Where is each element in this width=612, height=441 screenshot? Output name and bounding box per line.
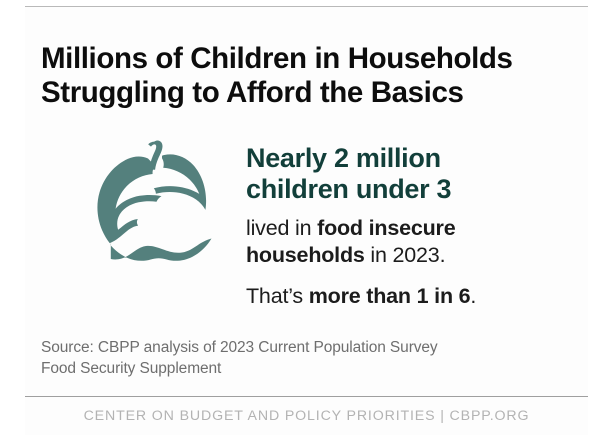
page-title: Millions of Children in Households Strug… <box>41 42 586 110</box>
stat-headline-line-1: Nearly 2 million <box>246 143 576 174</box>
stat-desc-regular-2: in 2023. <box>365 243 446 267</box>
apple-icon <box>88 132 228 277</box>
headline-line-2: Struggling to Afford the Basics <box>41 76 586 110</box>
stat-kicker-regular-start: That’s <box>246 284 309 308</box>
stat-kicker-regular-end: . <box>470 284 476 308</box>
stat-headline-line-2: children under 3 <box>246 174 576 205</box>
source-note: Source: CBPP analysis of 2023 Current Po… <box>41 337 571 379</box>
stat-description-line-1: lived in food insecure <box>246 215 576 242</box>
stat-kicker: That’s more than 1 in 6. <box>246 283 576 310</box>
source-line-1: Source: CBPP analysis of 2023 Current Po… <box>41 337 571 358</box>
stat-description: lived in food insecure households in 202… <box>246 215 576 269</box>
stat-kicker-bold: more than 1 in 6 <box>309 284 471 308</box>
infographic-canvas: Millions of Children in Households Strug… <box>0 0 612 441</box>
headline-line-1: Millions of Children in Households <box>41 42 586 76</box>
stat-desc-bold-1: food insecure <box>317 216 455 240</box>
stat-headline: Nearly 2 million children under 3 <box>246 143 576 205</box>
stat-desc-bold-2: households <box>246 243 365 267</box>
footer-attribution: CENTER ON BUDGET AND POLICY PRIORITIES |… <box>25 408 588 424</box>
stat-description-line-2: households in 2023. <box>246 242 576 269</box>
stat-block: Nearly 2 million children under 3 lived … <box>246 143 576 310</box>
stat-desc-regular-1: lived in <box>246 216 317 240</box>
footer-divider <box>25 396 588 397</box>
source-line-2: Food Security Supplement <box>41 358 571 379</box>
top-divider <box>25 6 588 7</box>
